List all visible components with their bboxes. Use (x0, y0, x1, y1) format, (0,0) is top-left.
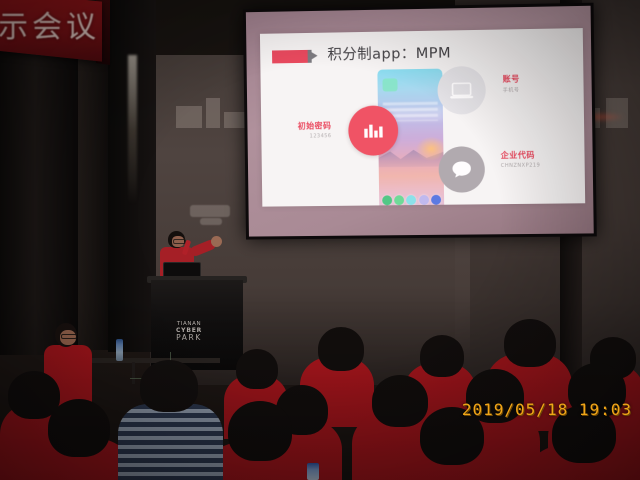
camera-timestamp: 2019/05/18 19:03 (462, 400, 632, 419)
attendee-striped-body (118, 404, 223, 480)
dock-camera-icon (419, 195, 429, 205)
red-banner: 示会议 (0, 0, 102, 62)
attendee-striped-head (140, 360, 198, 412)
audience-head (420, 335, 464, 377)
speaker-hand (211, 236, 222, 247)
dock-phone-icon (382, 195, 392, 205)
presentation-slide: 积分制app：MPM (260, 28, 585, 207)
callout-sub: CHNZNXP219 (501, 163, 541, 170)
dock-browser-icon (431, 195, 441, 205)
projection-screen: 积分制app：MPM (243, 3, 597, 240)
callout-company-code: 企业代码 CHNZNXP219 (501, 149, 541, 169)
audience-head (504, 319, 556, 367)
audience-head (236, 349, 278, 389)
callout-sub: 手机号 (503, 86, 520, 93)
callout-initial-password: 初始密码 123456 (298, 120, 332, 139)
phone-widget-icon (383, 78, 398, 91)
column-light-glint (128, 55, 137, 205)
audience-head (318, 327, 364, 371)
slide-title: 积分制app：MPM (327, 41, 451, 64)
dock-wechat-icon (394, 195, 404, 205)
callout-sub: 123456 (298, 133, 332, 139)
wall-patch (200, 218, 222, 225)
banner-text: 示会议 (0, 2, 100, 46)
callout-heading: 初始密码 (298, 120, 332, 131)
audience-head (372, 375, 428, 427)
audience-head (48, 399, 110, 457)
wall-patch (190, 205, 230, 217)
callout-heading: 企业代码 (501, 149, 541, 161)
screenshot-root: 示会议 积分制app：MPM (0, 0, 640, 480)
front-water-bottle (307, 463, 319, 480)
callout-account: 账号 手机号 (503, 73, 520, 93)
audience-head (228, 401, 292, 461)
callout-heading: 账号 (503, 73, 520, 84)
title-badge (272, 50, 308, 64)
title-arrow-icon (308, 50, 318, 62)
dock-messages-icon (407, 195, 417, 205)
phone-dock (382, 193, 442, 206)
speech-bubble-icon (438, 146, 485, 193)
laptop-icon (437, 66, 486, 115)
audience (0, 315, 640, 480)
